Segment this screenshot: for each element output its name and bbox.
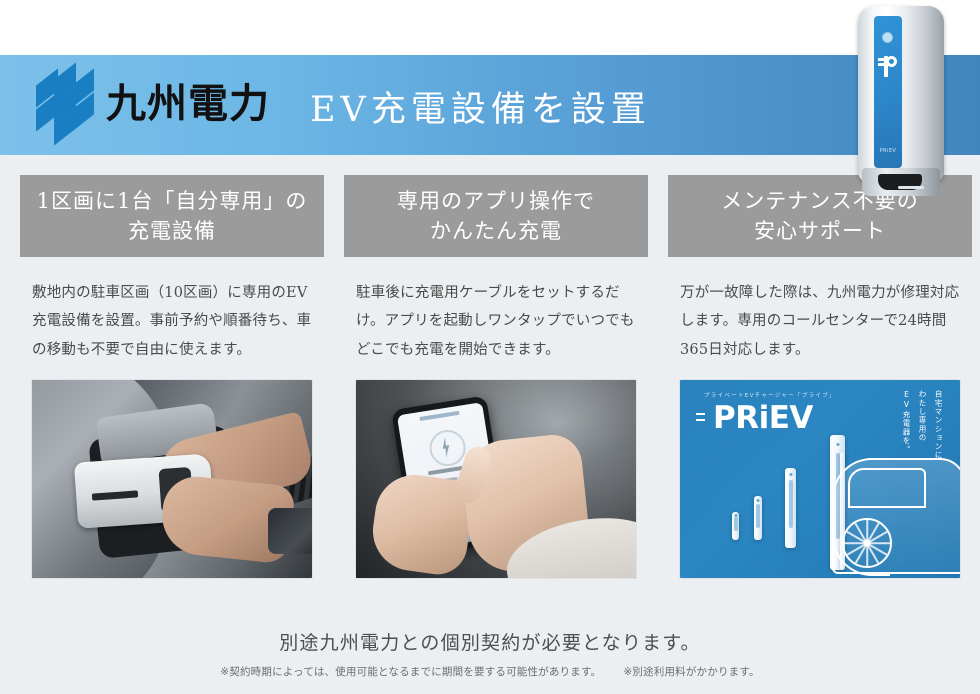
column-2-heading-line1: 専用のアプリ操作で	[397, 186, 595, 216]
ev-charging-connector-photo	[32, 380, 312, 578]
footer-main-note: 別途九州電力との個別契約が必要となります。	[0, 628, 980, 655]
column-3-heading-line2: 安心サポート	[754, 216, 886, 246]
lightning-bolt-icon	[427, 427, 468, 468]
column-1-heading: 1区画に1台「自分専用」の 充電設備	[20, 175, 324, 257]
feature-columns: 1区画に1台「自分専用」の 充電設備 敷地内の駐車区画（10区画）に専用のEV充…	[20, 175, 960, 615]
page-title: EV充電設備を設置	[310, 81, 651, 132]
smartphone-charging-app-photo	[356, 380, 636, 578]
footer-note-1: ※契約時期によっては、使用可能となるまでに期間を要する可能性があります。	[220, 664, 601, 679]
device-slot-lip	[898, 186, 924, 189]
charging-post-medium	[785, 468, 796, 548]
device-brand-label: PRiEV	[874, 148, 902, 154]
charging-post-small	[732, 512, 739, 540]
charging-post-medium-small	[754, 496, 762, 540]
column-2-body: 駐車後に充電用ケーブルをセットするだけ。アプリを起動しワンタップでいつでもどこで…	[344, 257, 648, 578]
priev-poster-photo: プライベートEVチャージャー「プライブ」 PRiEV 自宅マンションに わたし専…	[680, 380, 960, 578]
priev-logo-text: PRiEV	[713, 403, 813, 434]
feature-column-2: 専用のアプリ操作で かんたん充電 駐車後に充電用ケーブルをセットするだけ。アプリ…	[344, 175, 648, 615]
column-3-text: 万が一故障した際は、九州電力が修理対応します。専用のコールセンターで24時間36…	[680, 279, 960, 364]
column-1-text: 敷地内の駐車区画（10区画）に専用のEV充電設備を設置。事前予約や順番待ち、車の…	[32, 279, 312, 364]
column-2-heading-line2: かんたん充電	[430, 216, 562, 246]
header-band: 九州電力 EV充電設備を設置	[0, 55, 980, 155]
feature-column-1: 1区画に1台「自分専用」の 充電設備 敷地内の駐車区画（10区画）に専用のEV充…	[20, 175, 324, 615]
footer-note-2: ※別途利用料がかかります。	[623, 664, 759, 679]
footer: 別途九州電力との個別契約が必要となります。 ※契約時期によっては、使用可能となる…	[0, 622, 980, 694]
column-2-text: 駐車後に充電用ケーブルをセットするだけ。アプリを起動しワンタップでいつでもどこで…	[356, 279, 636, 364]
poster-tagline: プライベートEVチャージャー「プライブ」	[704, 391, 836, 399]
priev-charger-device-image: PRiEV	[858, 0, 944, 196]
content-area: 1区画に1台「自分専用」の 充電設備 敷地内の駐車区画（10区画）に専用のEV充…	[0, 155, 980, 694]
column-2-heading: 専用のアプリ操作で かんたん充電	[344, 175, 648, 257]
kyuden-diamond-logo-icon	[34, 71, 96, 137]
brand-lockup: 九州電力	[34, 71, 270, 137]
footer-notes: ※契約時期によっては、使用可能となるまでに期間を要する可能性があります。 ※別途…	[0, 664, 980, 679]
priev-plug-p-icon	[878, 54, 898, 78]
feature-column-3: メンテナンス不要の 安心サポート 万が一故障した際は、九州電力が修理対応します。…	[668, 175, 972, 615]
column-1-heading-line1: 1区画に1台「自分専用」の	[37, 186, 308, 216]
column-3-body: 万が一故障した際は、九州電力が修理対応します。専用のコールセンターで24時間36…	[668, 257, 972, 578]
column-1-heading-line2: 充電設備	[128, 216, 216, 246]
priev-plug-icon	[696, 408, 712, 430]
car-wheel-icon	[842, 518, 892, 568]
column-1-body: 敷地内の駐車区画（10区画）に専用のEV充電設備を設置。事前予約や順番待ち、車の…	[20, 257, 324, 578]
poster-page: 九州電力 EV充電設備を設置 PRiEV 1区画に1台「自分専用」の 充電設備	[0, 0, 980, 694]
brand-name: 九州電力	[106, 84, 270, 124]
electric-car-outline	[832, 458, 960, 574]
device-indicator-icon	[882, 32, 893, 43]
priev-logo: PRiEV	[696, 402, 813, 436]
